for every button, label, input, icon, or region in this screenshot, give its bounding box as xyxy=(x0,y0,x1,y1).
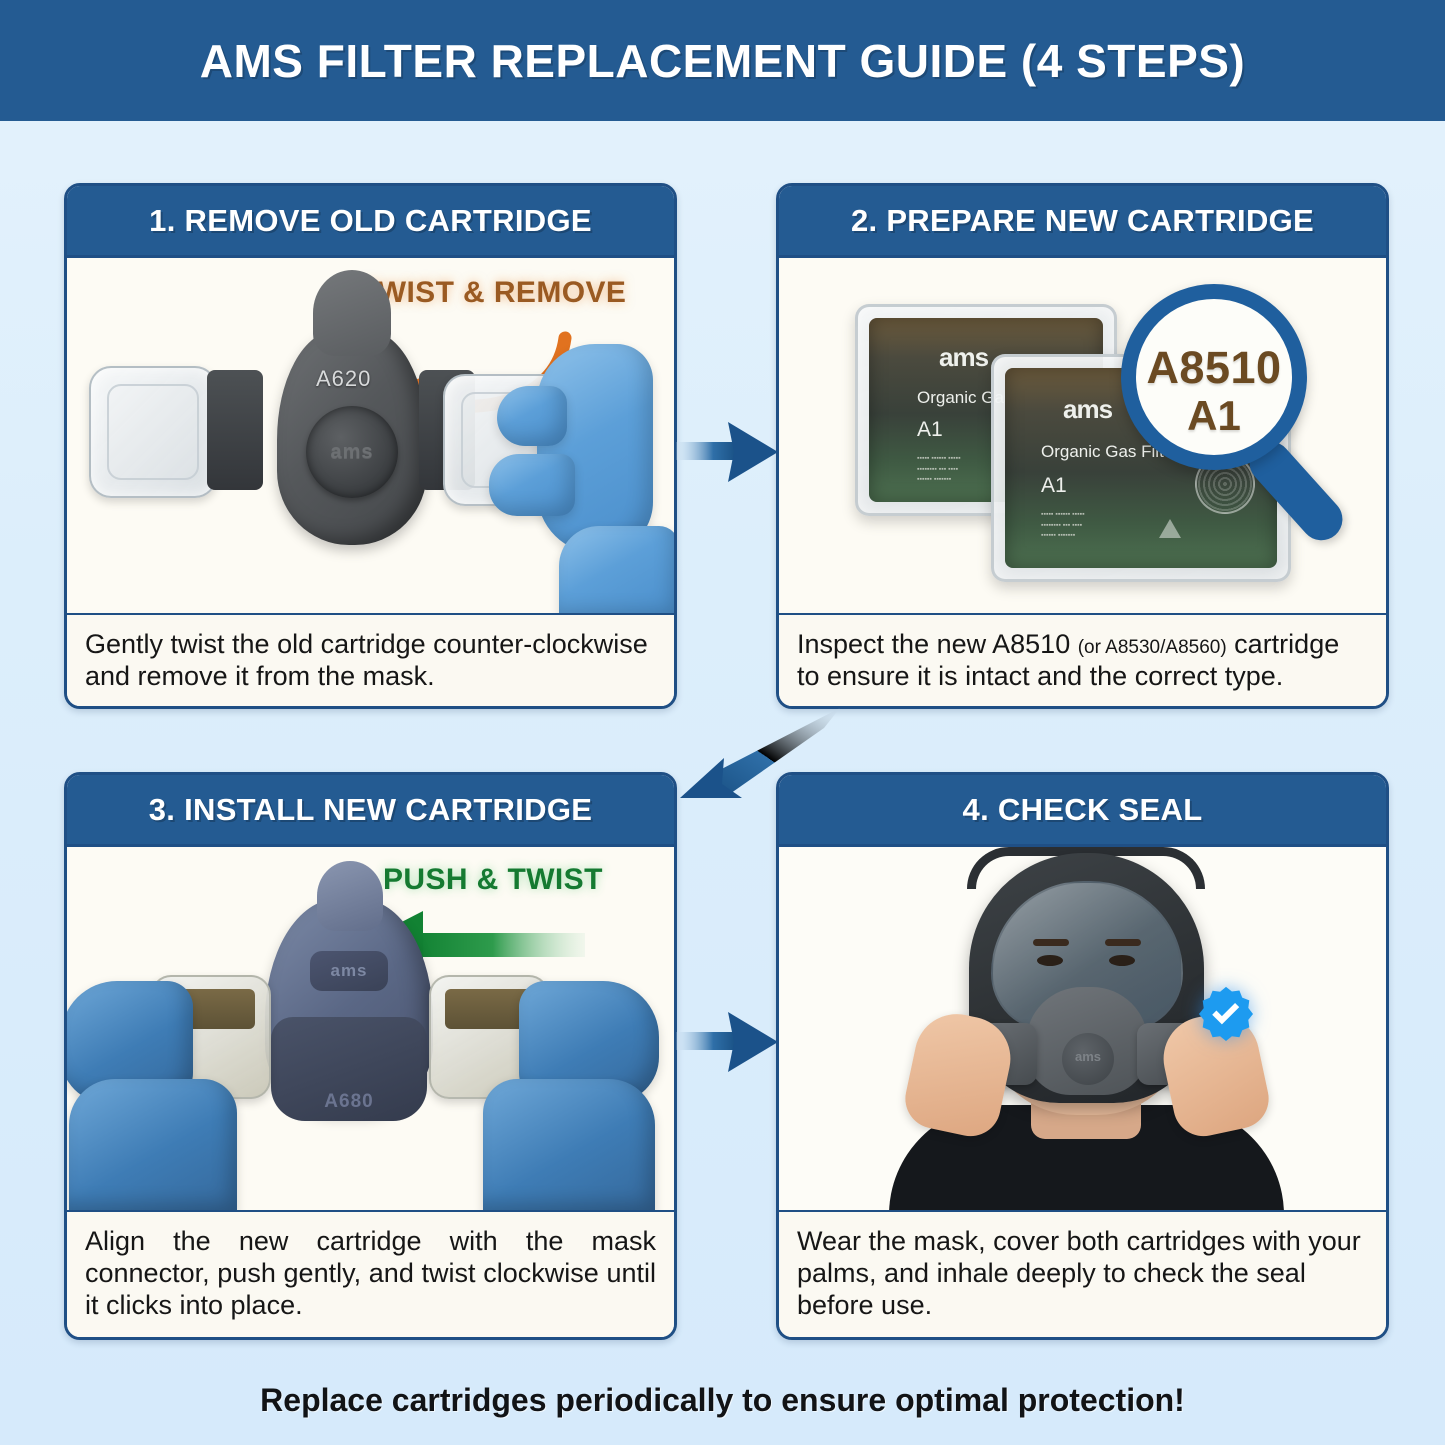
step-1-photo: TWIST & REMOVE A620 ams xyxy=(67,258,674,613)
step-4-caption: Wear the mask, cover both cartridges wit… xyxy=(779,1210,1386,1340)
step-2-photo: ams Organic Gas A1 ▪▪▪▪▪ ▪▪▪▪▪▪ ▪▪▪▪▪▪▪▪… xyxy=(779,258,1386,613)
glove-thumb xyxy=(497,386,567,446)
arrow-step3-to-step4 xyxy=(676,1000,782,1084)
step-2-header: 2. PREPARE NEW CARTRIDGE xyxy=(779,186,1386,258)
mask-logo-text: ams xyxy=(330,961,367,981)
step-3-header: 3. INSTALL NEW CARTRIDGE xyxy=(67,775,674,847)
glove-wrist-left xyxy=(69,1079,237,1210)
valve-logo-text: ams xyxy=(330,441,373,464)
magnifier-line-2: A1 xyxy=(1121,392,1307,440)
infographic-page: AMS FILTER REPLACEMENT GUIDE (4 STEPS) 1… xyxy=(0,0,1445,1445)
step-2-caption: Inspect the new A8510 (or A8530/A8560) c… xyxy=(779,613,1386,709)
step-card-1: 1. REMOVE OLD CARTRIDGE TWIST & REMOVE A… xyxy=(64,183,677,709)
step-4-photo: ams xyxy=(779,847,1386,1210)
arrow-step2-to-step3 xyxy=(664,700,844,812)
magnifier: A8510 A1 xyxy=(1117,280,1377,580)
mask-logo-plate: ams xyxy=(310,951,388,991)
step-3-title: 3. INSTALL NEW CARTRIDGE xyxy=(149,792,593,828)
cartridge-left xyxy=(89,366,217,498)
glove-wrist xyxy=(559,526,674,613)
eyebrow-left xyxy=(1033,939,1069,946)
header-bar: AMS FILTER REPLACEMENT GUIDE (4 STEPS) xyxy=(0,0,1445,121)
respirator-nose-piece xyxy=(313,270,391,356)
step-card-2: 2. PREPARE NEW CARTRIDGE ams Organic Gas… xyxy=(776,183,1389,709)
step-1-caption: Gently twist the old cartridge counter-c… xyxy=(67,613,674,709)
respirator-nose-piece-blue xyxy=(317,861,383,931)
mask-model-label-3: A680 xyxy=(271,1091,427,1113)
twist-and-remove-label: TWIST & REMOVE xyxy=(359,276,626,310)
step-2-title: 2. PREPARE NEW CARTRIDGE xyxy=(851,203,1314,239)
step-4-header: 4. CHECK SEAL xyxy=(779,775,1386,847)
footer-note: Replace cartridges periodically to ensur… xyxy=(0,1382,1445,1419)
magnifier-line-1: A8510 xyxy=(1121,342,1307,394)
step-card-4: 4. CHECK SEAL ams We xyxy=(776,772,1389,1340)
mask-model-label: A620 xyxy=(316,366,371,392)
gloved-hand xyxy=(537,344,653,554)
filter-grade-front: A1 xyxy=(1041,474,1067,498)
step-card-3: 3. INSTALL NEW CARTRIDGE PUSH & TWIST xyxy=(64,772,677,1340)
glove-wrist-right xyxy=(483,1079,655,1210)
page-title: AMS FILTER REPLACEMENT GUIDE (4 STEPS) xyxy=(200,34,1246,88)
step-3-caption: Align the new cartridge with the mask co… xyxy=(67,1210,674,1340)
verified-check-icon xyxy=(1197,985,1255,1043)
ams-logo-back: ams xyxy=(939,342,988,373)
mask-valve-logo: ams xyxy=(1062,1049,1114,1064)
step-2-caption-before: Inspect the new A8510 xyxy=(797,629,1078,659)
exhalation-valve-cover: ams xyxy=(306,406,398,498)
glove-fingers xyxy=(489,454,575,516)
filter-grade-back: A1 xyxy=(917,418,943,442)
step-1-title: 1. REMOVE OLD CARTRIDGE xyxy=(149,203,592,239)
cartridge-left-body xyxy=(207,370,263,490)
eye-right xyxy=(1109,955,1135,966)
step-3-photo: PUSH & TWIST ams A680 xyxy=(67,847,674,1210)
step-2-caption-variants: (or A8530/A8560) xyxy=(1078,637,1227,658)
arrow-step1-to-step2 xyxy=(676,410,782,494)
ams-logo-front: ams xyxy=(1063,394,1112,425)
step-1-header: 1. REMOVE OLD CARTRIDGE xyxy=(67,186,674,258)
eyebrow-right xyxy=(1105,939,1141,946)
step-4-title: 4. CHECK SEAL xyxy=(963,792,1203,828)
push-and-twist-label: PUSH & TWIST xyxy=(383,863,603,897)
eye-left xyxy=(1037,955,1063,966)
